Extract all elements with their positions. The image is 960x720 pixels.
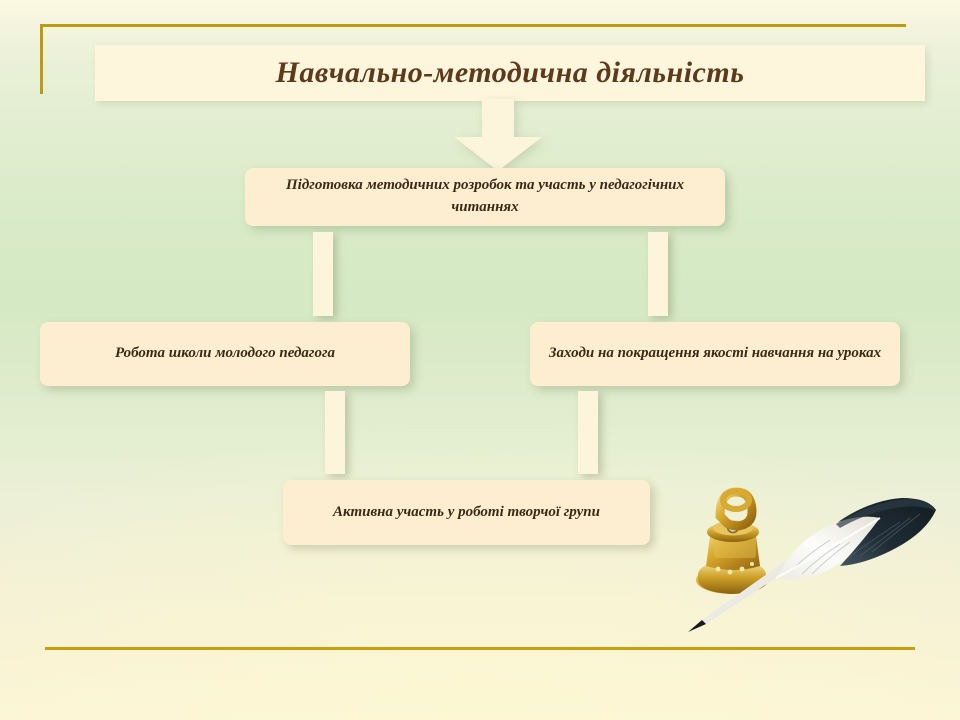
connector-left-to-bottom: [325, 391, 345, 474]
quill-and-inkwell-icon: [680, 470, 950, 645]
diagram-node-right-label: Заходи на покращення якості навчання на …: [531, 343, 899, 365]
connector-top-to-right: [648, 232, 668, 316]
slide-title-banner: Навчально-методична діяльність: [95, 45, 925, 101]
diagram-node-top-label: Підготовка методичних розробок та участь…: [245, 175, 725, 219]
diagram-node-bottom[interactable]: Активна участь у роботі творчої групи: [283, 480, 650, 545]
diagram-node-bottom-label: Активна участь у роботі творчої групи: [315, 502, 618, 524]
diagram-node-left-label: Робота школи молодого педагога: [97, 343, 353, 365]
slide-canvas: Навчально-методична діяльність Підготовк…: [0, 0, 960, 720]
diagram-node-left[interactable]: Робота школи молодого педагога: [40, 322, 410, 386]
connector-top-to-left: [313, 232, 333, 316]
diagram-node-top[interactable]: Підготовка методичних розробок та участь…: [245, 168, 725, 226]
diagram-node-right[interactable]: Заходи на покращення якості навчання на …: [530, 322, 900, 386]
gold-rule-left: [40, 24, 43, 94]
gold-rule-bottom: [45, 647, 915, 650]
connector-right-to-bottom: [578, 391, 598, 474]
page-title: Навчально-методична діяльність: [276, 56, 745, 90]
arrow-down-icon: [438, 99, 558, 171]
gold-rule-top: [40, 24, 906, 27]
